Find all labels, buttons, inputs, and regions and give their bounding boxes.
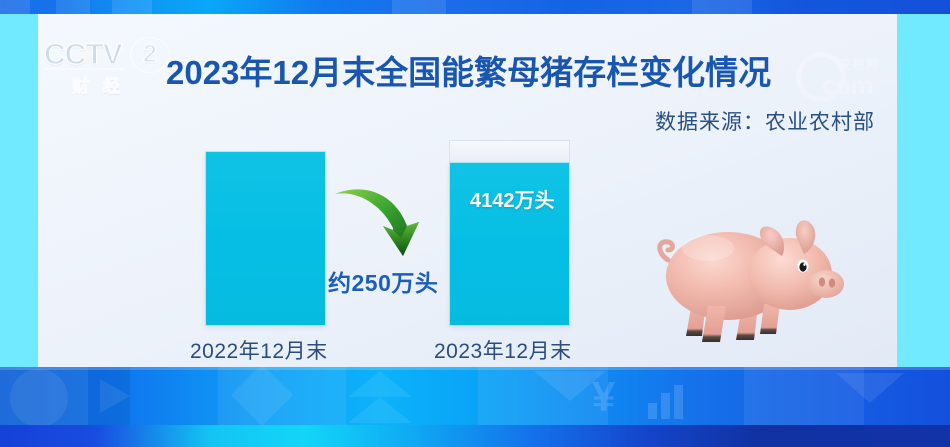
bar-chart: 4142万头 2022年12月末 2023年12月末 (38, 14, 897, 367)
bar-2022 (206, 152, 325, 325)
banner-circle-decor (10, 369, 68, 427)
banner-chevron-down-decor-2 (836, 373, 904, 403)
bar-2023-ghost-cap (450, 141, 569, 163)
decrease-amount-label: 约250万头 (328, 264, 438, 298)
right-cyan-strip (897, 14, 950, 367)
banner-bottom-strip (0, 425, 950, 447)
x-label-2023: 2023年12月末 (434, 335, 572, 365)
banner-chevron-decor-1 (348, 371, 412, 397)
top-accent-strip (0, 0, 950, 14)
decrease-arrow-icon (331, 182, 431, 272)
x-label-2022: 2022年12月末 (190, 335, 328, 365)
chart-card: 央视网 com CCTV 2 财经 2023年12月末全国能繁母猪存栏变化情况 … (38, 14, 897, 367)
pig-illustration (646, 210, 876, 360)
bottom-banner: ¥ (0, 367, 950, 447)
yen-icon: ¥ (592, 373, 615, 421)
banner-triangle-decor (100, 379, 130, 413)
bar-2023-value-label: 4142万头 (470, 184, 555, 213)
broadcast-frame: 央视网 com CCTV 2 财经 2023年12月末全国能繁母猪存栏变化情况 … (0, 0, 950, 447)
banner-chevron-decor-2 (348, 397, 412, 423)
bar-chart-icon (648, 385, 692, 419)
left-cyan-strip (0, 14, 38, 367)
